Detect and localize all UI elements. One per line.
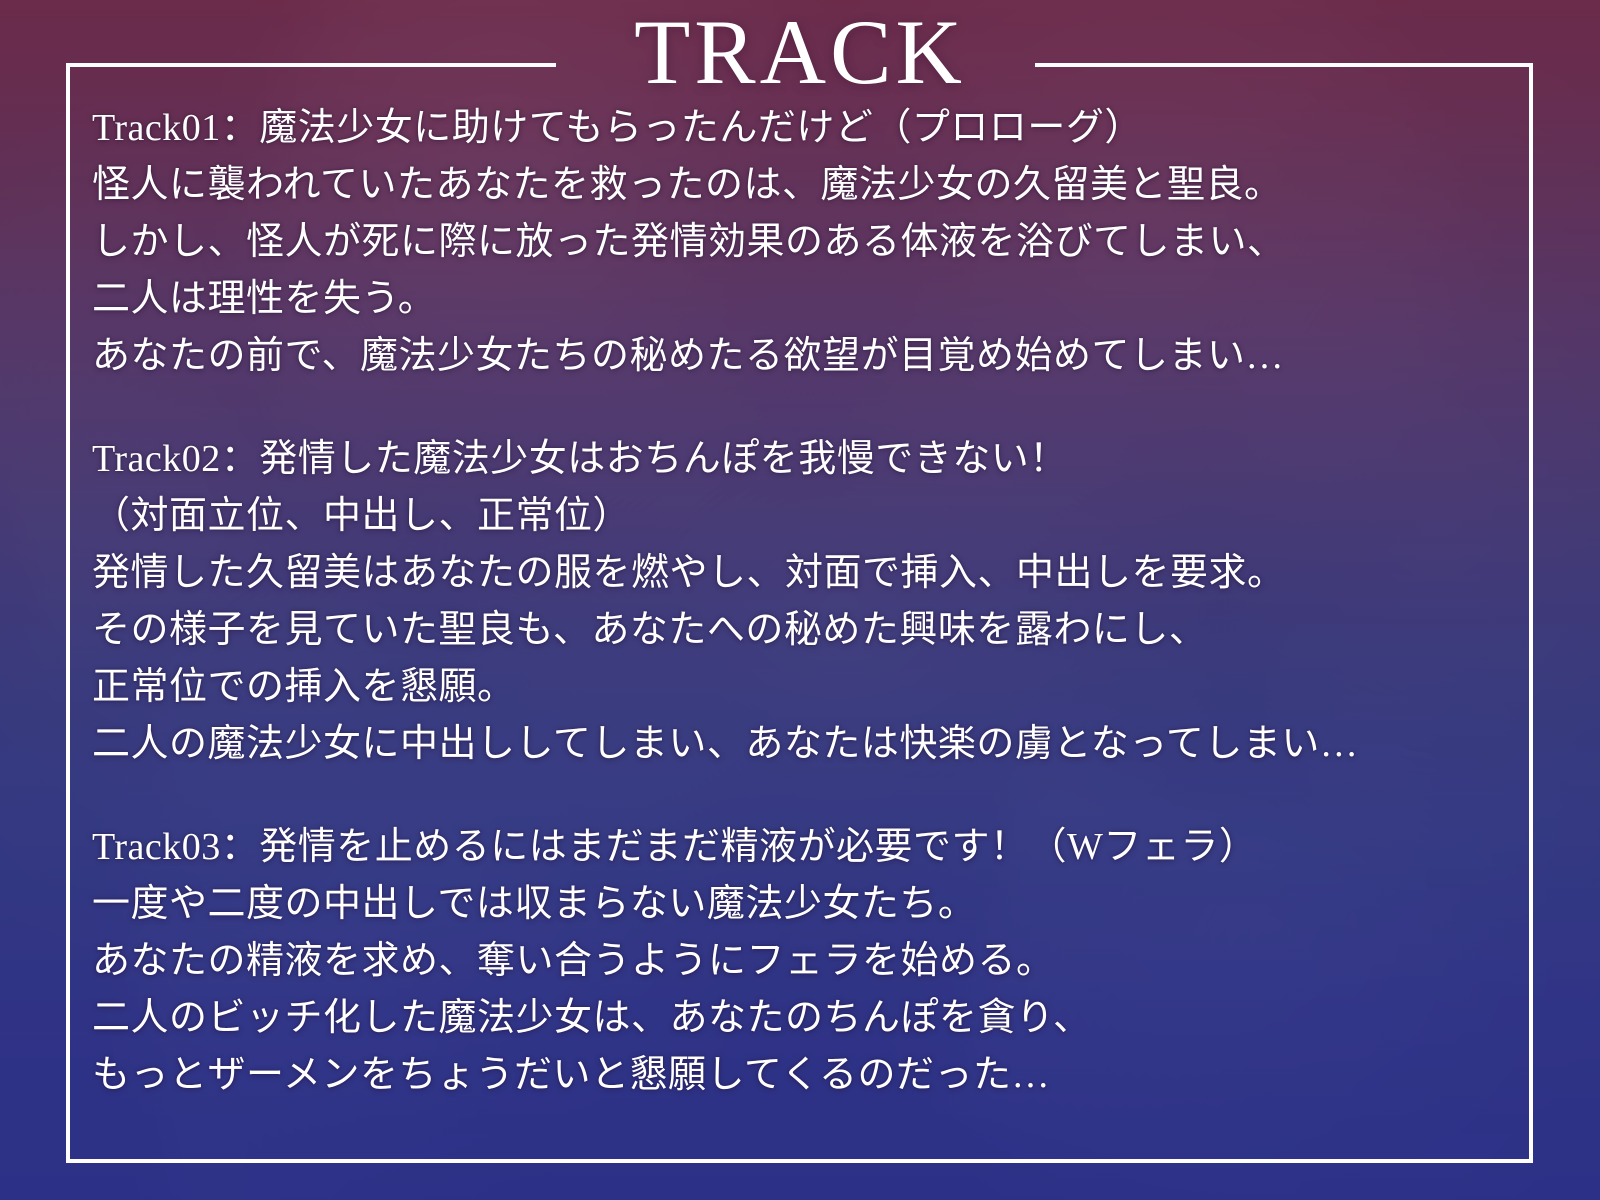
track-block-02: Track02：発情した魔法少女はおちんぽを我慢できない！ （対面立位、中出し、… <box>92 431 1510 773</box>
track-line: あなたの前で、魔法少女たちの秘めたる欲望が目覚め始めてしまい… <box>92 328 1510 385</box>
track-line: もっとザーメンをちょうだいと懇願してくるのだった… <box>92 1047 1510 1104</box>
track-line: 二人の魔法少女に中出ししてしまい、あなたは快楽の虜となってしまい… <box>92 716 1510 773</box>
track-list: Track01：魔法少女に助けてもらったんだけど（プロローグ） 怪人に襲われてい… <box>92 100 1510 1104</box>
track-line: 一度や二度の中出しでは収まらない魔法少女たち。 <box>92 876 1510 933</box>
track-line: Track03：発情を止めるにはまだまだ精液が必要です！（Wフェラ） <box>92 819 1510 876</box>
track-block-03: Track03：発情を止めるにはまだまだ精液が必要です！（Wフェラ） 一度や二度… <box>92 819 1510 1104</box>
track-line: あなたの精液を求め、奪い合うようにフェラを始める。 <box>92 933 1510 990</box>
track-line: しかし、怪人が死に際に放った発情効果のある体液を浴びてしまい、 <box>92 214 1510 271</box>
track-listing-card: TRACK Track01：魔法少女に助けてもらったんだけど（プロローグ） 怪人… <box>0 0 1600 1200</box>
track-line: 発情した久留美はあなたの服を燃やし、対面で挿入、中出しを要求。 <box>92 545 1510 602</box>
track-line: 正常位での挿入を懇願。 <box>92 659 1510 716</box>
track-block-01: Track01：魔法少女に助けてもらったんだけど（プロローグ） 怪人に襲われてい… <box>92 100 1510 385</box>
page-title: TRACK <box>0 6 1600 98</box>
track-line: Track01：魔法少女に助けてもらったんだけど（プロローグ） <box>92 100 1510 157</box>
track-line: その様子を見ていた聖良も、あなたへの秘めた興味を露わにし、 <box>92 602 1510 659</box>
track-line: （対面立位、中出し、正常位） <box>92 488 1510 545</box>
track-line: Track02：発情した魔法少女はおちんぽを我慢できない！ <box>92 431 1510 488</box>
track-line: 二人は理性を失う。 <box>92 271 1510 328</box>
track-line: 二人のビッチ化した魔法少女は、あなたのちんぽを貪り、 <box>92 990 1510 1047</box>
track-line: 怪人に襲われていたあなたを救ったのは、魔法少女の久留美と聖良。 <box>92 157 1510 214</box>
